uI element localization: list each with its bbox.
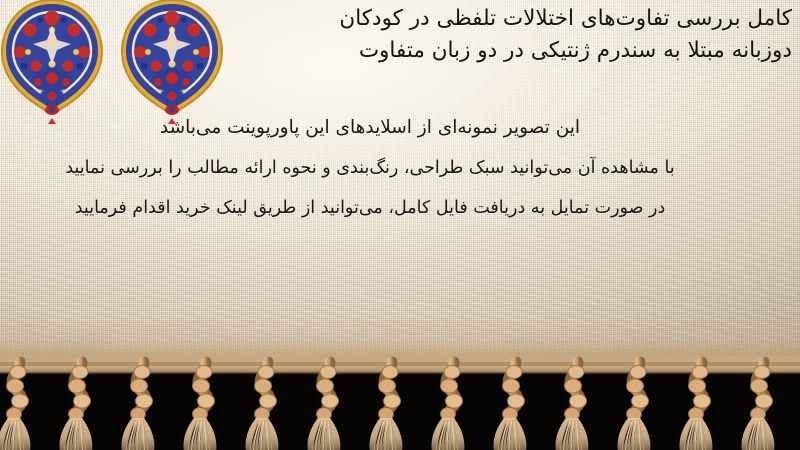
slide-title: کامل بررسی تفاوت‌های اختلالات تلفظی در ک… <box>210 4 792 66</box>
slide-body-line-1: این تصویر نمونه‌ای از اسلایدهای این پاور… <box>60 108 680 148</box>
slide-body-line-3: در صورت تمایل به دریافت فایل کامل، می‌تو… <box>60 188 680 228</box>
tassel-row <box>0 362 774 450</box>
slide-body-text: این تصویر نمونه‌ای از اسلایدهای این پاور… <box>60 108 680 228</box>
slide-title-line-2: دوزبانه مبتلا به سندرم ژنتیکی در دو زبان… <box>210 36 792 66</box>
slide-body-line-2: با مشاهده آن می‌توانید سبک طراحی، رنگ‌بن… <box>60 148 680 188</box>
slide-title-line-1: کامل بررسی تفاوت‌های اختلالات تلفظی در ک… <box>210 4 792 34</box>
presentation-slide: کامل بررسی تفاوت‌های اختلالات تلفظی در ک… <box>0 0 800 450</box>
tassel-fringe <box>0 356 800 450</box>
